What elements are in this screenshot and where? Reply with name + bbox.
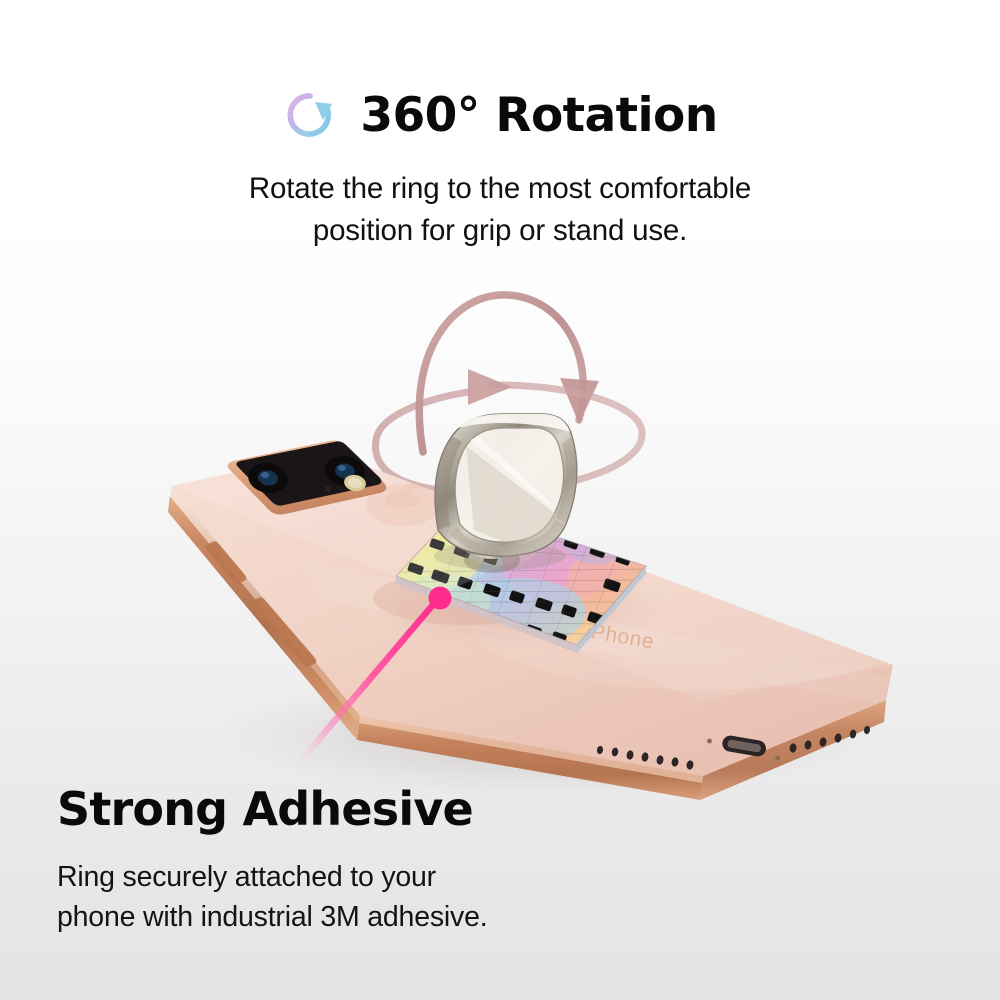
feature-description-line-2: position for grip or stand use. bbox=[0, 210, 1000, 252]
snakeskin-pattern bbox=[375, 494, 657, 654]
horizontal-rotation-arc bbox=[376, 385, 643, 492]
camera-housing bbox=[228, 441, 387, 515]
pointer-dot bbox=[429, 587, 452, 610]
svg-text:iPhone: iPhone bbox=[584, 619, 656, 653]
microphone bbox=[325, 486, 331, 492]
ring-outer bbox=[435, 414, 577, 556]
camera-lens-plate bbox=[236, 441, 381, 505]
iphone-wordmark: iPhone bbox=[584, 619, 656, 653]
phone-right-rail bbox=[700, 700, 886, 800]
top-feature-block: 360° Rotation Rotate the ring to the mos… bbox=[0, 84, 1000, 252]
phone-back-glass bbox=[171, 452, 893, 776]
ring-holder-accessory bbox=[375, 414, 657, 654]
camera-flash bbox=[343, 473, 368, 493]
vertical-rotation-arc bbox=[419, 295, 583, 452]
side-buttons bbox=[206, 541, 317, 666]
product-feature-image: iPhone bbox=[0, 0, 1000, 1000]
adhesive-pointer bbox=[297, 587, 452, 766]
speaker-grille-left bbox=[596, 745, 694, 770]
camera-lens-1 bbox=[246, 459, 291, 496]
hub-barrel bbox=[466, 527, 518, 559]
headline-row: 360° Rotation bbox=[0, 84, 1000, 146]
hub-cap bbox=[466, 515, 518, 539]
pointer-line bbox=[297, 600, 437, 765]
adhesive-description: Ring securely attached to your phone wit… bbox=[57, 857, 677, 938]
rotation-arrow-icon bbox=[282, 87, 338, 143]
camera-module bbox=[228, 441, 387, 515]
volume-up-button bbox=[206, 541, 247, 583]
adhesive-base-plate bbox=[375, 494, 657, 654]
feature-heading: 360° Rotation bbox=[360, 92, 717, 139]
phone-shadow bbox=[215, 673, 875, 797]
bottom-feature-block: Strong Adhesive Ring securely attached t… bbox=[57, 786, 677, 938]
feature-description: Rotate the ring to the most comfortable … bbox=[0, 168, 1000, 252]
adhesive-description-line-2: phone with industrial 3M adhesive. bbox=[57, 897, 677, 937]
ring-aperture bbox=[455, 428, 563, 542]
phone-left-rail bbox=[168, 486, 360, 740]
ring-top-highlight bbox=[452, 414, 570, 432]
camera-lens-2 bbox=[323, 452, 368, 489]
vertical-arrow-head bbox=[560, 378, 599, 424]
swivel-hub bbox=[464, 515, 520, 573]
phone-chamfer-bottom bbox=[359, 716, 703, 783]
adhesive-description-line-1: Ring securely attached to your bbox=[57, 857, 677, 897]
speaker-grille-right bbox=[789, 725, 871, 753]
metal-ring bbox=[434, 414, 577, 570]
snakeskin-surface bbox=[396, 506, 646, 645]
feature-description-line-1: Rotate the ring to the most comfortable bbox=[0, 168, 1000, 210]
rotation-arrows bbox=[376, 295, 643, 492]
adhesive-heading: Strong Adhesive bbox=[57, 786, 677, 832]
phone-chamfer-left bbox=[168, 486, 360, 722]
ring-reflection bbox=[370, 566, 670, 650]
horizontal-arrow-head bbox=[468, 369, 512, 405]
iphone-device: iPhone bbox=[168, 441, 930, 801]
volume-down-button bbox=[252, 597, 317, 666]
apple-logo bbox=[366, 483, 440, 526]
lightning-port bbox=[721, 734, 767, 757]
bottom-port-area bbox=[596, 725, 870, 770]
